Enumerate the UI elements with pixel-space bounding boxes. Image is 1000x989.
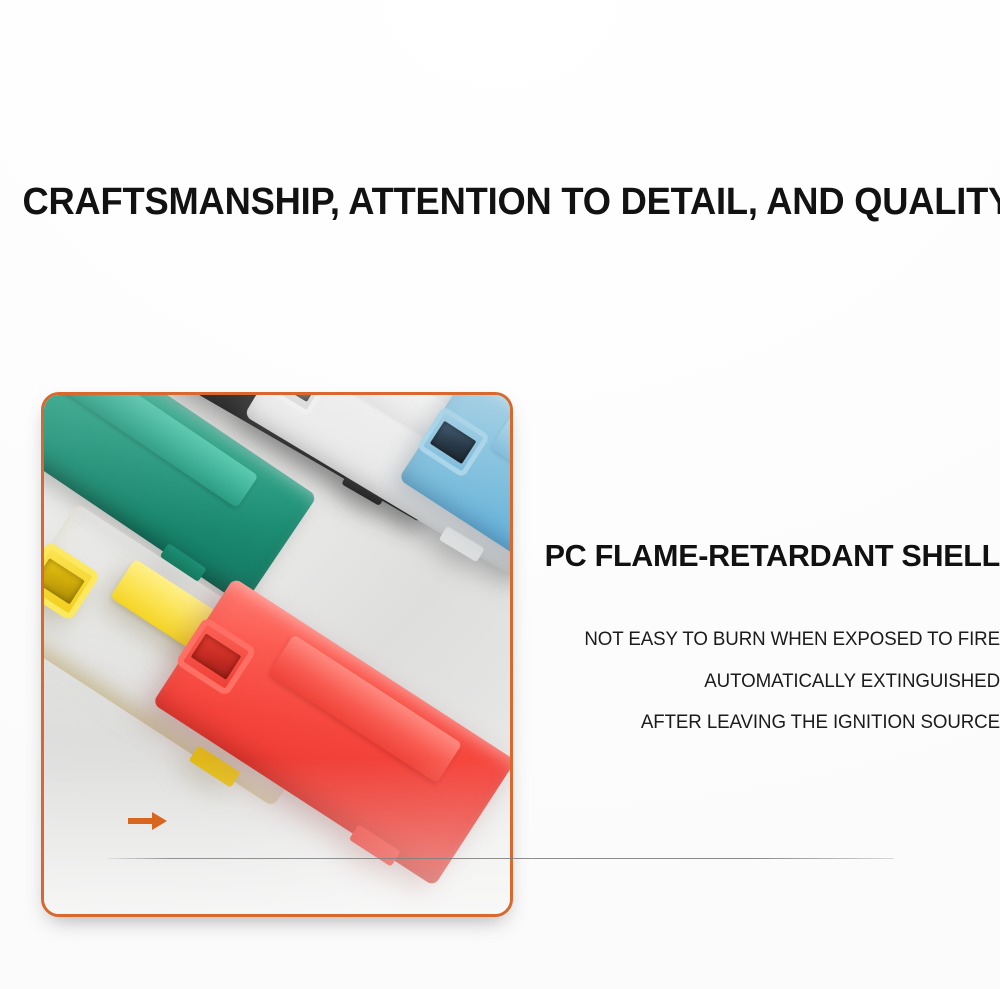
product-photo-frame <box>41 392 513 917</box>
feature-line-3: AFTER LEAVING THE IGNITION SOURCE <box>549 713 1000 733</box>
product-photo <box>44 395 510 914</box>
feature-line-1: NOT EASY TO BURN WHEN EXPOSED TO FIRE <box>549 630 1000 650</box>
feature-line-2: AUTOMATICALLY EXTINGUISHED <box>549 672 1000 692</box>
page-title: CRAFTSMANSHIP, ATTENTION TO DETAIL, AND … <box>23 182 978 224</box>
blue-connector-port-hole <box>430 420 477 464</box>
red-connector <box>152 578 510 887</box>
feature-title: PC FLAME-RETARDANT SHELL <box>537 538 1000 574</box>
arrow-right-icon <box>128 810 168 832</box>
feature-copy-block: PC FLAME-RETARDANT SHELL NOT EASY TO BUR… <box>530 538 1000 733</box>
red-connector-port-hole <box>191 633 242 680</box>
feature-description: NOT EASY TO BURN WHEN EXPOSED TO FIRE AU… <box>530 630 1000 733</box>
page-root: CRAFTSMANSHIP, ATTENTION TO DETAIL, AND … <box>0 0 1000 989</box>
baseline-divider <box>108 858 894 859</box>
yellow-connector-port-hole <box>44 558 85 605</box>
